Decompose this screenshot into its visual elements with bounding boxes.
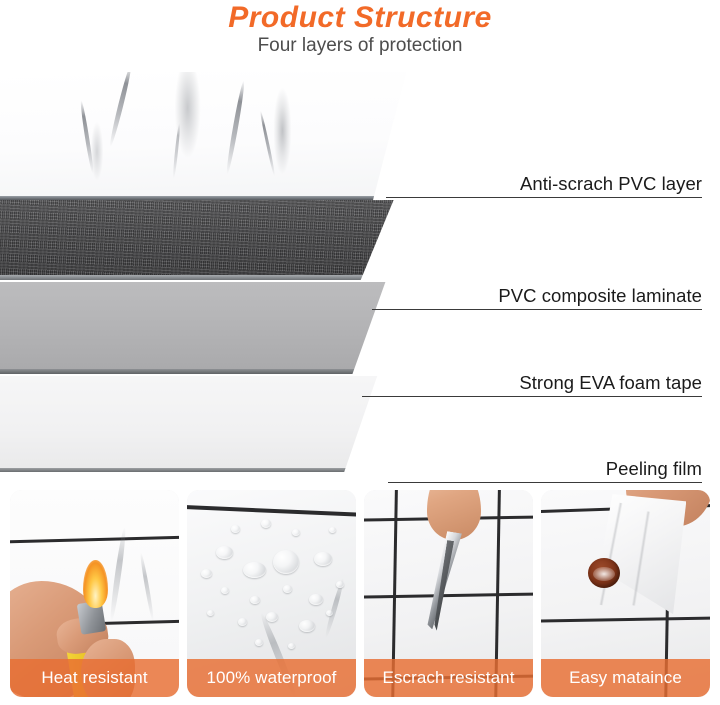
water-droplet <box>288 643 295 649</box>
callout-label: Strong EVA foam tape <box>519 372 702 394</box>
water-droplet <box>261 519 271 528</box>
layer-2-slab <box>0 200 406 280</box>
layer-3-slab <box>0 282 406 374</box>
feature-caption: Easy mataince <box>569 668 682 688</box>
tile-grout-line <box>187 504 356 516</box>
water-droplet <box>221 587 229 594</box>
layer-4-slab <box>0 376 406 472</box>
feature-card-scratch-resistant: Escrach resistant <box>364 490 533 697</box>
callout-leader-line <box>388 482 702 483</box>
callout-label: Anti-scrach PVC layer <box>520 173 702 195</box>
water-droplet <box>216 546 233 559</box>
tile-grout-line <box>364 592 533 598</box>
water-droplet <box>273 550 299 574</box>
water-droplet <box>250 596 260 604</box>
water-droplet <box>201 569 212 578</box>
feature-caption: Heat resistant <box>41 668 147 688</box>
product-structure-diagram: Anti-scrach PVC layer PVC composite lami… <box>0 60 720 485</box>
stain-wipe-highlight <box>593 567 615 581</box>
layer-eva-foam-tape <box>0 282 406 374</box>
callout-leader-line <box>362 396 702 397</box>
layer-pvc-composite-laminate <box>0 200 406 280</box>
flame <box>83 560 108 608</box>
layer-3-edge <box>0 369 406 374</box>
water-droplet <box>329 527 336 533</box>
callout-label: Peeling film <box>606 458 702 480</box>
water-droplet <box>255 639 263 646</box>
feature-card-easy-maintenance: Easy mataince <box>541 490 710 697</box>
water-droplet <box>326 610 333 616</box>
water-droplet <box>283 585 292 593</box>
marble-vein <box>225 80 246 174</box>
water-droplet <box>266 612 278 622</box>
peeling-film-surface <box>0 376 406 472</box>
marble-surface <box>0 72 406 200</box>
water-droplet <box>309 594 323 605</box>
textured-composite-surface <box>0 200 406 280</box>
header: Product Structure Four layers of protect… <box>0 0 720 68</box>
water-droplet <box>207 610 214 616</box>
feature-card-waterproof: 100% waterproof <box>187 490 356 697</box>
water-droplet <box>336 581 344 588</box>
marble-vein <box>259 111 276 177</box>
water-droplet <box>314 552 332 566</box>
page-title: Product Structure <box>0 1 720 35</box>
marble-vein <box>79 100 95 174</box>
callout-leader-line <box>386 197 702 198</box>
feature-caption: 100% waterproof <box>206 668 336 688</box>
callout-label: PVC composite laminate <box>498 285 702 307</box>
caption-bar: Escrach resistant <box>364 659 533 697</box>
callout-leader-line <box>372 309 702 310</box>
caption-bar: Easy mataince <box>541 659 710 697</box>
marble-vein <box>107 65 132 148</box>
marble-vein <box>172 123 181 179</box>
layer-4-edge <box>0 468 406 472</box>
layer-stack <box>0 60 430 485</box>
marble-vein <box>108 527 127 622</box>
caption-bar: 100% waterproof <box>187 659 356 697</box>
layer-2-edge <box>0 275 406 280</box>
layer-anti-scrach-pvc <box>0 72 406 200</box>
water-droplet <box>299 620 315 632</box>
water-droplet <box>292 529 300 536</box>
marble-vein <box>139 552 155 622</box>
feature-card-heat-resistant: Heat resistant <box>10 490 179 697</box>
layer-peeling-film <box>0 376 406 472</box>
caption-bar: Heat resistant <box>10 659 179 697</box>
page-subtitle: Four layers of protection <box>0 35 720 57</box>
water-droplet <box>243 562 266 578</box>
layer-1-slab <box>0 72 406 200</box>
water-droplet <box>238 618 247 626</box>
tile-grout-line <box>541 617 710 623</box>
water-droplet <box>231 525 240 533</box>
eva-foam-surface <box>0 282 406 374</box>
tile-grout-line <box>10 535 179 543</box>
feature-caption: Escrach resistant <box>382 668 514 688</box>
feature-thumbnail-row: Heat resistant <box>10 490 710 697</box>
